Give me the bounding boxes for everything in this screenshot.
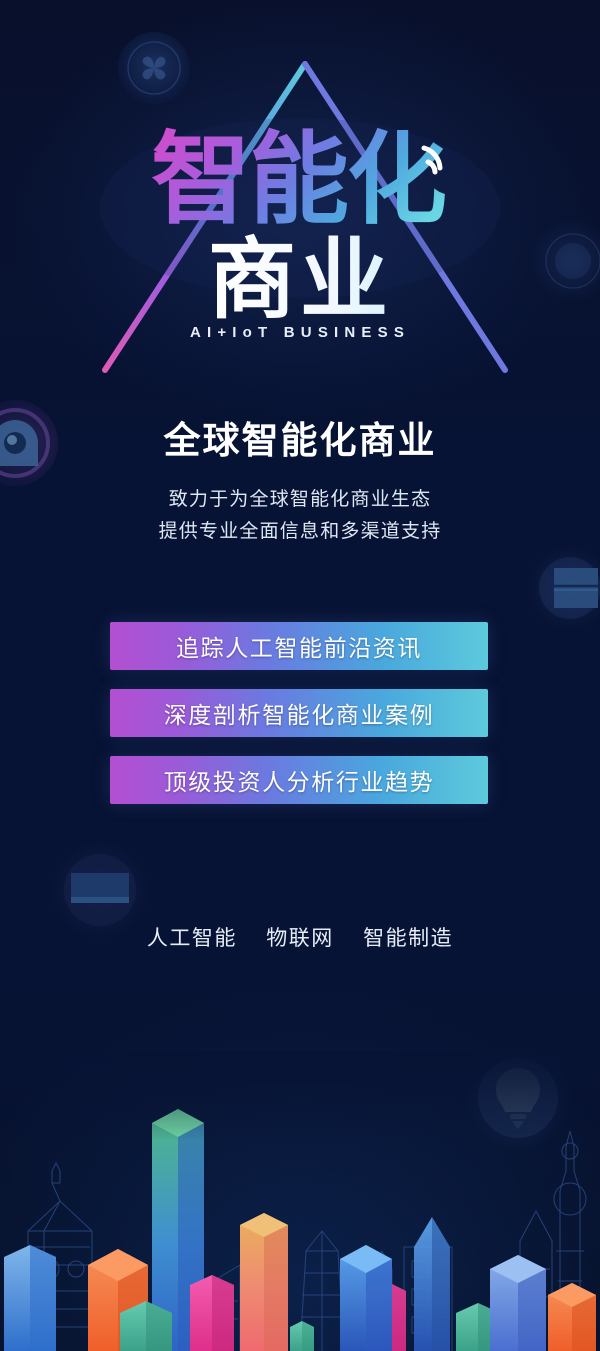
bar-blue-tall [340,1245,392,1351]
feature-pill-label: 深度剖析智能化商业案例 [164,696,435,730]
feature-pill-3[interactable]: 顶级投资人分析行业趋势 [110,756,488,804]
bar-pink [190,1275,234,1351]
logo-block: 智能化 商业 AI+IoT BUSINESS [0,52,600,382]
subtitle-line-1: 致力于为全球智能化商业生态 [0,484,600,516]
bar-amber [240,1213,288,1351]
bar-teal-cube [290,1321,314,1351]
city-skyline [0,1051,600,1351]
logo-line1: 智能化 [151,121,445,238]
bar-orange-right [548,1283,596,1351]
bar-blue-left [4,1245,56,1351]
feature-pill-2[interactable]: 深度剖析智能化商业案例 [110,689,488,737]
bar-indigo-right [490,1255,546,1351]
page-title: 全球智能化商业 [0,410,600,464]
bar-spire-blue [414,1217,450,1351]
logo-tagline-en: AI+IoT BUSINESS [0,324,600,341]
keyword-tag-1: 人工智能 [147,927,237,950]
feature-pill-label: 顶级投资人分析行业趋势 [164,763,435,797]
subtitle-line-2: 提供专业全面信息和多渠道支持 [0,516,600,548]
page-subtitle: 致力于为全球智能化商业生态 提供专业全面信息和多渠道支持 [0,484,600,548]
window-icon [528,546,600,630]
keyword-tag-2: 物联网 [266,927,334,950]
feature-pill-label: 追踪人工智能前沿资讯 [176,629,422,663]
poster-canvas: 智能化 商业 AI+IoT BUSINESS 全球智能化商业 致力于为全球智能化… [0,0,600,1351]
logo-line2: 商业 [208,228,392,331]
feature-pill-1[interactable]: 追踪人工智能前沿资讯 [110,622,488,670]
isometric-bars [4,1109,596,1351]
logo-wordmark: 智能化 商业 [0,108,600,338]
feature-list: 追踪人工智能前沿资讯 深度剖析智能化商业案例 顶级投资人分析行业趋势 [110,622,490,804]
keyword-tag-3: 智能制造 [363,927,453,950]
keyword-tags: 人工智能 物联网 智能制造 [0,922,600,952]
